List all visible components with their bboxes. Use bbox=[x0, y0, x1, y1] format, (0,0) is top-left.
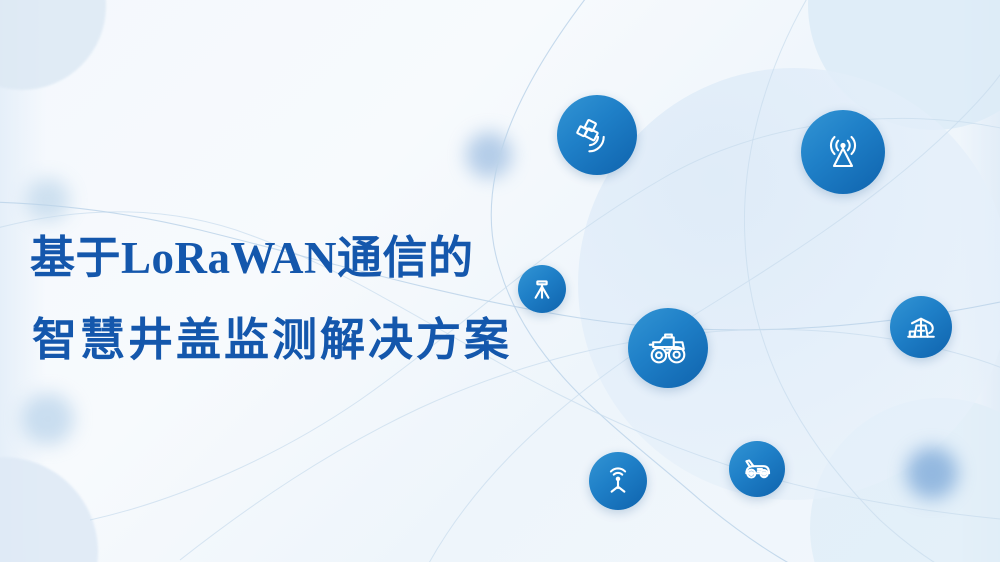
survey-tripod-icon bbox=[528, 275, 556, 303]
node-satellite[interactable] bbox=[557, 95, 637, 175]
top-left-soft-circle bbox=[0, 0, 106, 90]
node-oil-pump[interactable] bbox=[890, 296, 952, 358]
blurred-dot-a bbox=[466, 132, 512, 178]
node-tractor[interactable] bbox=[628, 308, 708, 388]
node-radio-tower[interactable] bbox=[801, 110, 885, 194]
radio-tower-icon bbox=[819, 128, 867, 176]
oil-pump-icon bbox=[903, 309, 939, 345]
blurred-dot-d bbox=[906, 447, 958, 499]
title-line-2: 智慧井盖监测解决方案 bbox=[32, 310, 570, 370]
blurred-dot-c bbox=[22, 393, 74, 445]
title-block: 基于LoRaWAN通信的 智慧井盖监测解决方案 bbox=[30, 228, 570, 370]
bottom-right-wash-blob bbox=[810, 398, 1000, 562]
title-line-1: 基于LoRaWAN通信的 bbox=[30, 228, 570, 288]
title-slide: 基于LoRaWAN通信的 智慧井盖监测解决方案 bbox=[0, 0, 1000, 562]
node-sensor-post[interactable] bbox=[589, 452, 647, 510]
right-edge-wash bbox=[960, 0, 1000, 562]
blurred-dot-b bbox=[26, 178, 70, 222]
tractor-icon bbox=[645, 325, 691, 371]
sensor-post-icon bbox=[601, 464, 635, 498]
globe-circle bbox=[578, 68, 1000, 500]
satellite-icon bbox=[574, 112, 620, 158]
robot-mower-icon bbox=[740, 452, 774, 486]
bottom-left-soft-circle bbox=[0, 457, 98, 562]
node-survey-tripod[interactable] bbox=[518, 265, 566, 313]
node-robot-mower[interactable] bbox=[729, 441, 785, 497]
